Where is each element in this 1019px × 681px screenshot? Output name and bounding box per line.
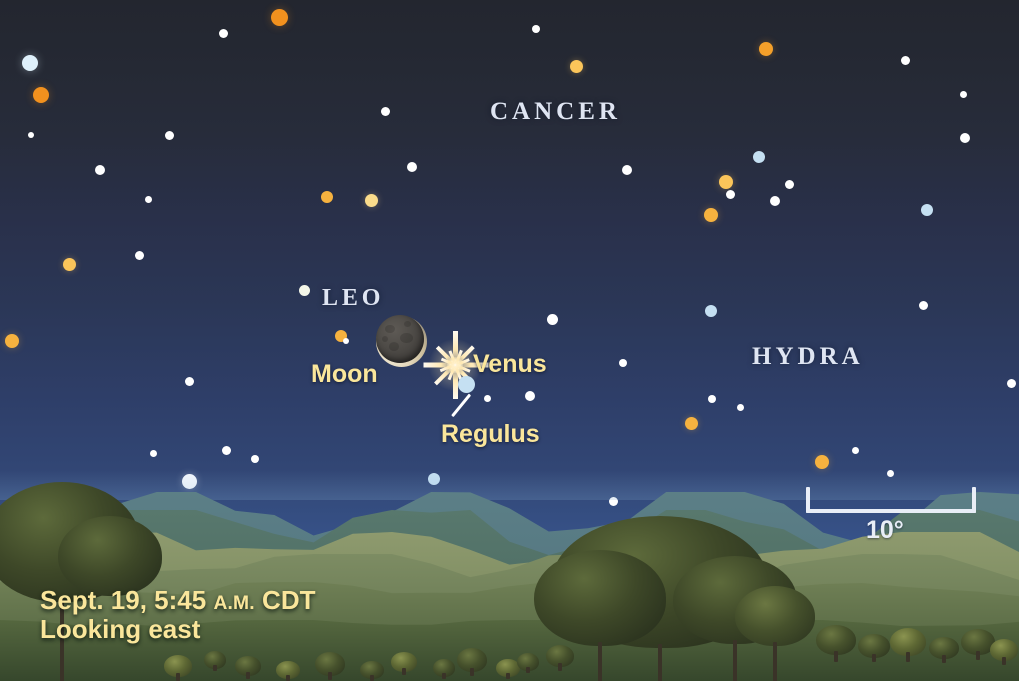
- moon-crater: [385, 325, 395, 333]
- moon-crater: [389, 342, 400, 351]
- star-point: [759, 42, 773, 56]
- tree-trunk: [942, 655, 946, 663]
- star-point: [547, 314, 558, 325]
- regulus-label: Regulus: [441, 420, 540, 449]
- tree-trunk: [872, 654, 876, 662]
- star-point: [704, 208, 718, 222]
- star-point: [770, 196, 780, 206]
- star-point: [135, 251, 144, 260]
- star-point: [150, 450, 157, 457]
- tree-trunk: [906, 652, 910, 662]
- moon-label: Moon: [311, 360, 378, 389]
- star-point: [1007, 379, 1016, 388]
- tree-trunk: [773, 642, 777, 681]
- star-point: [5, 334, 19, 348]
- constellation-label-leo: LEO: [322, 285, 384, 312]
- star-point: [185, 377, 194, 386]
- star-point: [737, 404, 744, 411]
- scale-bar-label: 10°: [866, 516, 904, 545]
- star-point: [381, 107, 390, 116]
- tree: [534, 550, 666, 646]
- moon-crater: [404, 321, 411, 327]
- star-point: [407, 162, 417, 172]
- star-point: [570, 60, 583, 73]
- star-point: [63, 258, 76, 271]
- star-point: [815, 455, 829, 469]
- tree-trunk: [402, 668, 406, 675]
- star-point: [525, 391, 535, 401]
- star-point: [960, 91, 967, 98]
- sky-chart: CANCERLEOHYDRA Moon Venus Regulus 10° Se…: [0, 0, 1019, 681]
- star-point: [622, 165, 632, 175]
- venus-label: Venus: [473, 350, 547, 379]
- star-point: [532, 25, 540, 33]
- star-point: [95, 165, 105, 175]
- star-point: [705, 305, 717, 317]
- scale-bar-right-tick: [972, 487, 976, 513]
- moon-crater: [400, 333, 412, 344]
- tree-trunk: [213, 665, 217, 671]
- angular-scale-bar: [806, 487, 976, 513]
- star-point: [343, 338, 349, 344]
- caption-datetime-line: Sept. 19, 5:45 A.M. CDT: [40, 586, 315, 615]
- tree-trunk: [470, 668, 474, 676]
- tree-trunk: [526, 667, 530, 673]
- star-point: [365, 194, 378, 207]
- tree-trunk: [976, 651, 980, 660]
- tree-trunk: [558, 663, 562, 671]
- star-point: [960, 133, 970, 143]
- star-point: [145, 196, 152, 203]
- star-point: [919, 301, 928, 310]
- tree-trunk: [286, 675, 290, 681]
- tree-trunk: [246, 672, 250, 679]
- star-point: [28, 132, 34, 138]
- star-point: [719, 175, 733, 189]
- tree-trunk: [1002, 657, 1006, 665]
- star-point: [22, 55, 38, 71]
- star-point: [708, 395, 716, 403]
- caption-date-time: Sept. 19, 5:45: [40, 585, 206, 615]
- tree-trunk: [658, 644, 662, 681]
- star-point: [165, 131, 174, 140]
- star-point: [271, 9, 288, 26]
- star-point: [921, 204, 933, 216]
- tree-trunk: [598, 642, 602, 681]
- star-point: [251, 455, 259, 463]
- moon-crater: [382, 336, 388, 342]
- star-point: [33, 87, 49, 103]
- tree-trunk: [506, 673, 510, 679]
- caption-timezone: CDT: [262, 585, 315, 615]
- tree: [58, 516, 162, 596]
- caption-direction-line: Looking east: [40, 615, 315, 644]
- star-point: [901, 56, 910, 65]
- star-point: [785, 180, 794, 189]
- star-point: [726, 190, 735, 199]
- scale-bar-left-tick: [806, 487, 810, 513]
- scale-bar-line: [806, 509, 976, 513]
- tree-trunk: [370, 675, 374, 681]
- star-point: [321, 191, 333, 203]
- caption-meridiem: A.M.: [213, 593, 254, 614]
- star-point: [753, 151, 765, 163]
- star-point: [685, 417, 698, 430]
- constellation-label-cancer: CANCER: [490, 98, 621, 126]
- tree-trunk: [834, 651, 838, 662]
- star-point: [852, 447, 859, 454]
- regulus-star: [458, 376, 475, 393]
- star-point: [222, 446, 231, 455]
- star-point: [619, 359, 627, 367]
- star-point: [299, 285, 310, 296]
- tree-trunk: [176, 673, 180, 681]
- tree: [735, 586, 815, 646]
- caption-block: Sept. 19, 5:45 A.M. CDT Looking east: [40, 586, 315, 644]
- tree-trunk: [328, 672, 332, 680]
- constellation-label-hydra: HYDRA: [752, 343, 864, 371]
- star-point: [219, 29, 228, 38]
- tree-trunk: [442, 673, 446, 679]
- tree-trunk: [733, 640, 737, 681]
